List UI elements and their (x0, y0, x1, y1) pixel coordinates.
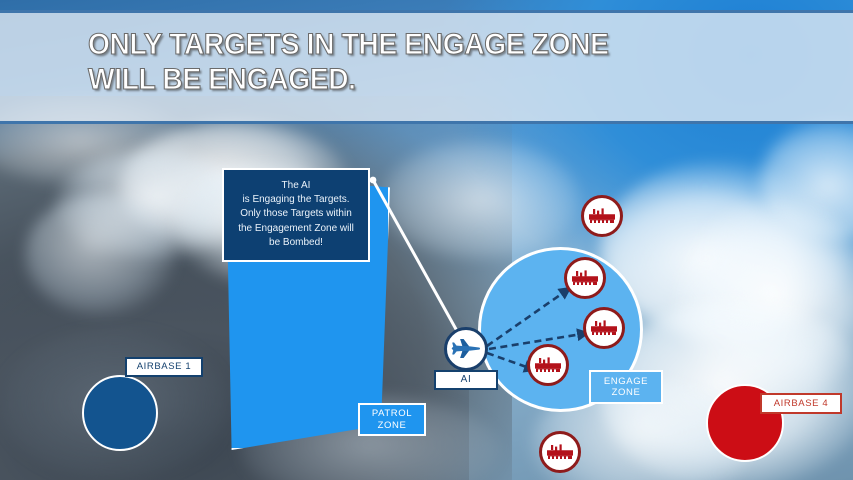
industrial-target-icon[interactable] (564, 257, 606, 299)
engage-zone-label[interactable]: ENGAGE ZONE (589, 370, 663, 404)
fighter-jet-icon[interactable] (444, 327, 488, 371)
presentation-slide: ONLY TARGETS IN THE ENGAGE ZONE WILL BE … (0, 0, 853, 480)
industrial-target-icon[interactable] (539, 431, 581, 473)
ai-explanation-callout: The AI is Engaging the Targets. Only tho… (222, 168, 370, 262)
patrol-zone-label[interactable]: PATROL ZONE (358, 403, 426, 436)
page-title: ONLY TARGETS IN THE ENGAGE ZONE WILL BE … (88, 27, 770, 97)
factory-glyph (589, 208, 615, 224)
industrial-target-icon[interactable] (583, 307, 625, 349)
jet-glyph (451, 337, 481, 361)
factory-glyph (572, 270, 598, 286)
airbase-1-label[interactable]: AIRBASE 1 (125, 357, 203, 377)
factory-glyph (547, 444, 573, 460)
airbase-1-marker[interactable] (82, 375, 158, 451)
industrial-target-icon[interactable] (581, 195, 623, 237)
factory-glyph (591, 320, 617, 336)
ai-label[interactable]: AI (434, 370, 498, 390)
airbase-4-label[interactable]: AIRBASE 4 (760, 393, 842, 414)
factory-glyph (535, 357, 561, 373)
industrial-target-icon[interactable] (527, 344, 569, 386)
